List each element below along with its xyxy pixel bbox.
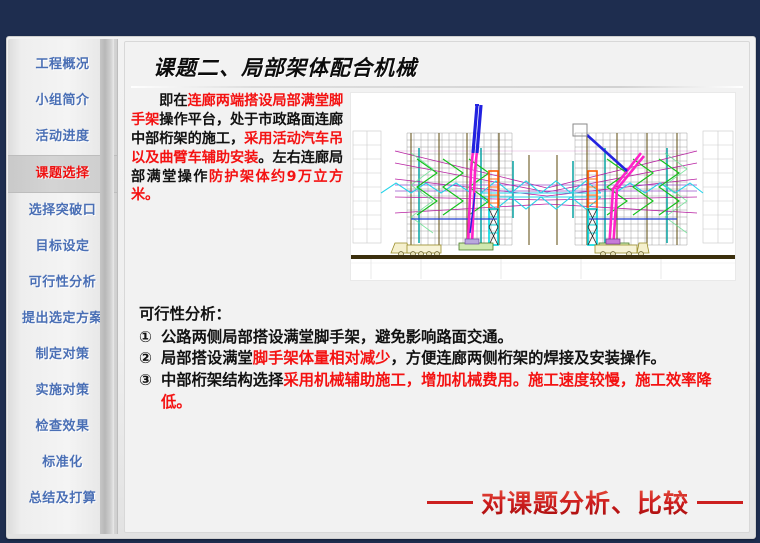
analysis-item-1: ① 公路两侧局部搭设满堂脚手架，避免影响路面交通。 — [139, 327, 739, 349]
footer-dash-right-icon — [697, 501, 743, 504]
analysis-item-2-number: ② — [139, 348, 161, 370]
intro-paragraph: 即在连廊两端搭设局部满堂脚手架操作平台，处于市政路面连廊中部桁架的施工，采用活动… — [131, 92, 343, 205]
feasibility-analysis: 可行性分析： ① 公路两侧局部搭设满堂脚手架，避免影响路面交通。 ② 局部搭设满… — [139, 304, 739, 414]
analysis-item-2-text: 局部搭设满堂脚手架体量相对减少，方便连廊两侧桁架的焊接及安装操作。 — [161, 348, 739, 370]
title-divider — [131, 86, 743, 88]
analysis-item-1-number: ① — [139, 327, 161, 349]
analysis-item-2-red: 脚手架体量相对减少 — [253, 349, 391, 367]
analysis-item-2-black-b: ，方便连廊两侧桁架的焊接及安装操作。 — [390, 349, 665, 367]
analysis-item-3: ③ 中部桁架结构选择采用机械辅助施工，增加机械费用。施工速度较慢，施工效率降低。 — [139, 370, 739, 413]
footer-headline: 对课题分析、比较 — [383, 482, 743, 522]
analysis-heading: 可行性分析： — [139, 304, 739, 326]
paragraph-seg-1: 即在 — [159, 93, 187, 109]
slide-root: 工程概况 小组简介 活动进度 课题选择 选择突破口 目标设定 可行性分析 提出选… — [0, 0, 760, 543]
content-panel: 课题二、局部架体配合机械 即在连廊两端搭设局部满堂脚手架操作平台，处于市政路面连… — [124, 41, 750, 533]
analysis-item-1-black-a: 公路两侧局部搭设满堂脚手架，避免影响路面交通。 — [161, 328, 513, 346]
analysis-item-2-black-a: 局部搭设满堂 — [161, 349, 253, 367]
footer-text-wrap: 对课题分析、比较 — [481, 484, 689, 520]
analysis-item-1-text: 公路两侧局部搭设满堂脚手架，避免影响路面交通。 — [161, 327, 739, 349]
analysis-item-3-number: ③ — [139, 370, 161, 392]
sidebar-scroll-rail[interactable] — [100, 39, 114, 534]
footer-dash-left-icon — [427, 501, 473, 504]
scaffolding-cad-image — [350, 92, 736, 281]
footer-text: 对课题分析、比较 — [481, 489, 689, 518]
analysis-item-3-black-a: 中部桁架结构选择 — [161, 371, 283, 389]
cad-drawing-svg — [351, 93, 735, 280]
page-title: 课题二、局部架体配合机械 — [153, 52, 417, 82]
analysis-item-3-text: 中部桁架结构选择采用机械辅助施工，增加机械费用。施工速度较慢，施工效率降低。 — [161, 370, 739, 413]
analysis-item-2: ② 局部搭设满堂脚手架体量相对减少，方便连廊两侧桁架的焊接及安装操作。 — [139, 348, 739, 370]
